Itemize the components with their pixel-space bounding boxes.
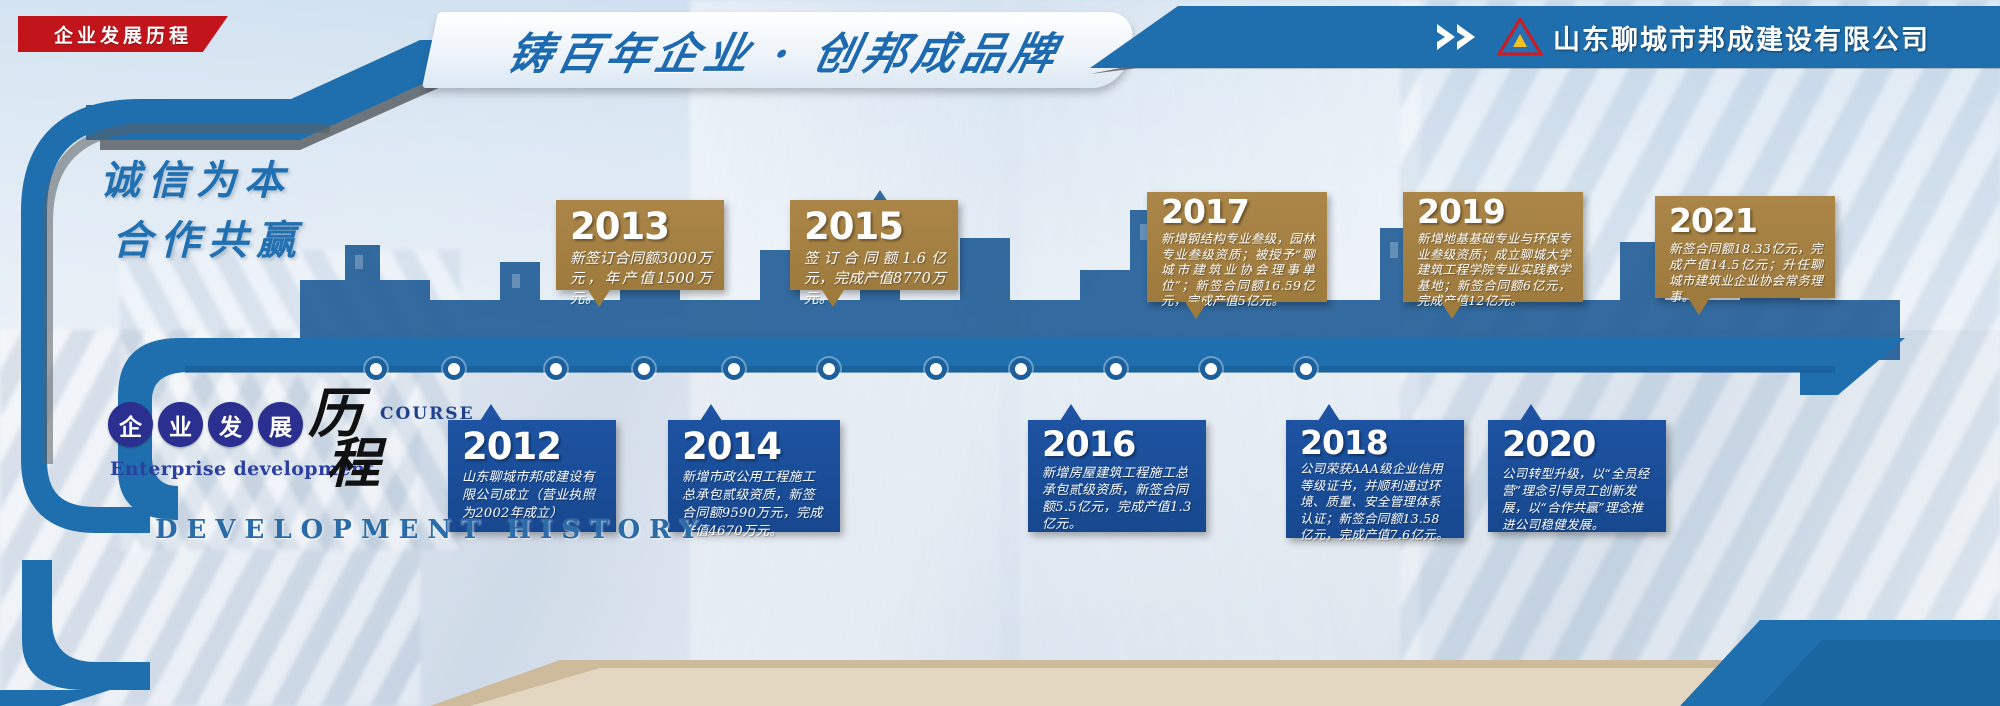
badge-calligraphy: 历 程: [308, 388, 376, 488]
red-corner-tag: 企业发展历程: [18, 16, 228, 52]
timeline-dot[interactable]: [1105, 358, 1127, 380]
company-name: 山东聊城市邦成建设有限公司: [1553, 18, 1930, 57]
timeline-card-text: 公司转型升级，以“全员经营”理念引导员工创新发展，以“合作共赢”理念推进公司稳健…: [1502, 465, 1654, 533]
timeline-card-text: 新增钢结构专业叁级，园林专业叁级资质；被授予“聊城市建筑业协会理事单位”；新签合…: [1161, 231, 1315, 309]
timeline-dot[interactable]: [545, 358, 567, 380]
infographic-canvas: 企业发展历程 铸百年企业 · 创邦成品牌 山东聊城市邦成建设有限公司 诚信为本 …: [0, 0, 2000, 706]
timeline-card-pointer: [1688, 298, 1710, 315]
timeline-card-2018[interactable]: 2018 公司荣获AAA级企业信用等级证书，并顺利通过环境、质量、安全管理体系认…: [1286, 420, 1464, 538]
timeline-card-year: 2018: [1300, 428, 1452, 458]
slogan-line-1: 诚信为本: [100, 148, 380, 206]
timeline-card-text: 新增房屋建筑工程施工总承包贰级资质，新签合同额5.5亿元，完成产值1.3亿元。: [1042, 465, 1194, 533]
timeline-card-year: 2016: [1042, 428, 1194, 462]
slogan-line-2: 合作共赢: [112, 208, 380, 266]
timeline-dot[interactable]: [818, 358, 840, 380]
timeline-dot[interactable]: [723, 358, 745, 380]
badge-circle-2: 业: [158, 402, 203, 447]
double-chevron-right-icon: [1435, 21, 1487, 53]
badge-circle-1: 企: [108, 402, 153, 447]
timeline-card-text: 公司荣获AAA级企业信用等级证书，并顺利通过环境、质量、安全管理体系认证；新签合…: [1300, 461, 1452, 544]
badge-circle-group: 企 业 发 展: [108, 402, 303, 447]
course-badge: 企 业 发 展 Enterprise development 历 程 COURS…: [108, 396, 408, 506]
triangle-logo-icon: [1497, 17, 1543, 57]
timeline-card-year: 2015: [804, 208, 946, 246]
timeline-card-pointer: [1441, 302, 1463, 319]
timeline-card-year: 2021: [1669, 204, 1823, 238]
company-identity: 山东聊城市邦成建设有限公司: [1435, 12, 1930, 62]
timeline-card-year: 2020: [1502, 428, 1654, 462]
headline: 铸百年企业 · 创邦成品牌: [447, 14, 1122, 86]
timeline-ribbon: [0, 0, 2000, 706]
timeline-dot[interactable]: [365, 358, 387, 380]
timeline-card-year: 2017: [1161, 196, 1315, 228]
timeline-card-2013[interactable]: 2013 新签订合同额3000万元，年产值1500万元。: [556, 200, 724, 290]
badge-calligraphy-2: 程: [326, 438, 376, 488]
timeline-card-pointer: [588, 290, 610, 307]
timeline-card-pointer: [1185, 302, 1207, 319]
timeline-card-pointer: [822, 290, 844, 307]
timeline-card-pointer: [1520, 404, 1542, 421]
timeline-card-year: 2012: [462, 428, 604, 466]
timeline-card-text: 新增地基基础专业与环保专业叁级资质；成立聊城大学建筑工程学院专业实践教学基地；新…: [1417, 231, 1571, 309]
timeline-card-2016[interactable]: 2016 新增房屋建筑工程施工总承包贰级资质，新签合同额5.5亿元，完成产值1.…: [1028, 420, 1206, 532]
red-corner-tag-label: 企业发展历程: [54, 21, 192, 48]
timeline-card-2015[interactable]: 2015 签订合同额1.6亿元，完成产值8770万元。: [790, 200, 958, 290]
timeline-dot[interactable]: [925, 358, 947, 380]
timeline-card-2021[interactable]: 2021 新签合同额18.33亿元，完成产值14.5亿元；升任聊城市建筑业企业协…: [1655, 196, 1835, 298]
headline-text: 铸百年企业 · 创邦成品牌: [503, 18, 1068, 82]
timeline-card-pointer: [1060, 404, 1082, 421]
timeline-card-year: 2019: [1417, 196, 1571, 228]
badge-circle-4: 展: [258, 402, 303, 447]
badge-circle-3: 发: [208, 402, 253, 447]
timeline-dot[interactable]: [1010, 358, 1032, 380]
timeline-card-pointer: [480, 404, 502, 421]
timeline-card-year: 2013: [570, 208, 712, 246]
timeline-card-pointer: [1318, 404, 1340, 421]
timeline-dot[interactable]: [1200, 358, 1222, 380]
timeline-card-2017[interactable]: 2017 新增钢结构专业叁级，园林专业叁级资质；被授予“聊城市建筑业协会理事单位…: [1147, 192, 1327, 302]
timeline-card-text: 新签合同额18.33亿元，完成产值14.5亿元；升任聊城市建筑业企业协会常务理事…: [1669, 241, 1823, 305]
footer-development-history: DEVELOPMENT HISTORY: [155, 515, 706, 545]
timeline-card-2019[interactable]: 2019 新增地基基础专业与环保专业叁级资质；成立聊城大学建筑工程学院专业实践教…: [1403, 192, 1583, 302]
timeline-card-year: 2014: [682, 428, 828, 466]
timeline-dot[interactable]: [443, 358, 465, 380]
timeline-dot[interactable]: [1295, 358, 1317, 380]
timeline-card-2020[interactable]: 2020 公司转型升级，以“全员经营”理念引导员工创新发展，以“合作共赢”理念推…: [1488, 420, 1666, 532]
timeline-dot[interactable]: [633, 358, 655, 380]
timeline-card-pointer: [700, 404, 722, 421]
brand-slogan: 诚信为本 合作共赢: [100, 148, 380, 268]
